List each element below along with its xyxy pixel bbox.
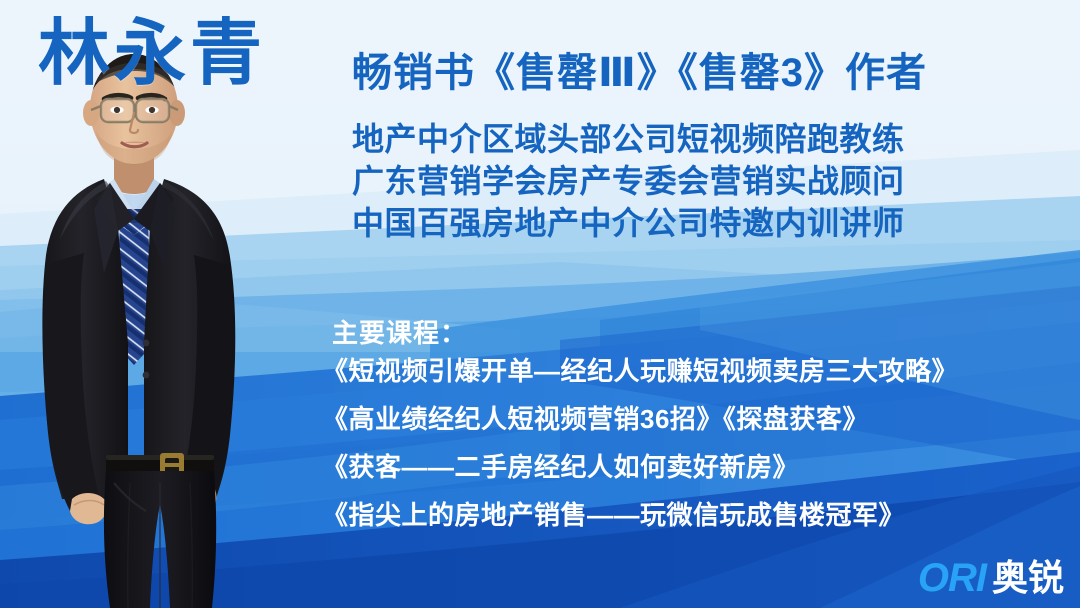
- brand-logo: ORI 奥锐: [918, 558, 1064, 598]
- course-item: 《指尖上的房地产销售——玩微信玩成售楼冠军》: [322, 502, 1022, 528]
- course-item: 《短视频引爆开单—经纪人玩赚短视频卖房三大攻略》: [322, 358, 1022, 384]
- courses-list: 《短视频引爆开单—经纪人玩赚短视频卖房三大攻略》 《高业绩经纪人短视频营销36招…: [322, 358, 1022, 550]
- courses-heading: 主要课程：: [332, 313, 467, 350]
- speaker-credentials: 地产中介区域头部公司短视频陪跑教练 广东营销学会房产专委会营销实战顾问 中国百强…: [352, 118, 1012, 245]
- brand-logo-name: 奥锐: [992, 560, 1064, 596]
- course-item: 《获客——二手房经纪人如何卖好新房》: [322, 454, 1022, 480]
- speaker-portrait-illustration: [18, 13, 348, 608]
- credential-line: 地产中介区域头部公司短视频陪跑教练: [352, 118, 1012, 160]
- speaker-name: 林永青: [38, 18, 266, 90]
- credential-line: 中国百强房地产中介公司特邀内训讲师: [352, 202, 1012, 244]
- speaker-headline: 畅销书《售罄Ⅲ》《售罄3》作者: [352, 52, 1002, 94]
- brand-logo-mark: ORI: [918, 558, 986, 598]
- speaker-profile-slide: 林永青 畅销书《售罄Ⅲ》《售罄3》作者 地产中介区域头部公司短视频陪跑教练 广东…: [0, 0, 1080, 608]
- speaker-portrait: [18, 13, 348, 608]
- course-item: 《高业绩经纪人短视频营销36招》《探盘获客》: [322, 406, 1022, 432]
- credential-line: 广东营销学会房产专委会营销实战顾问: [352, 160, 1012, 202]
